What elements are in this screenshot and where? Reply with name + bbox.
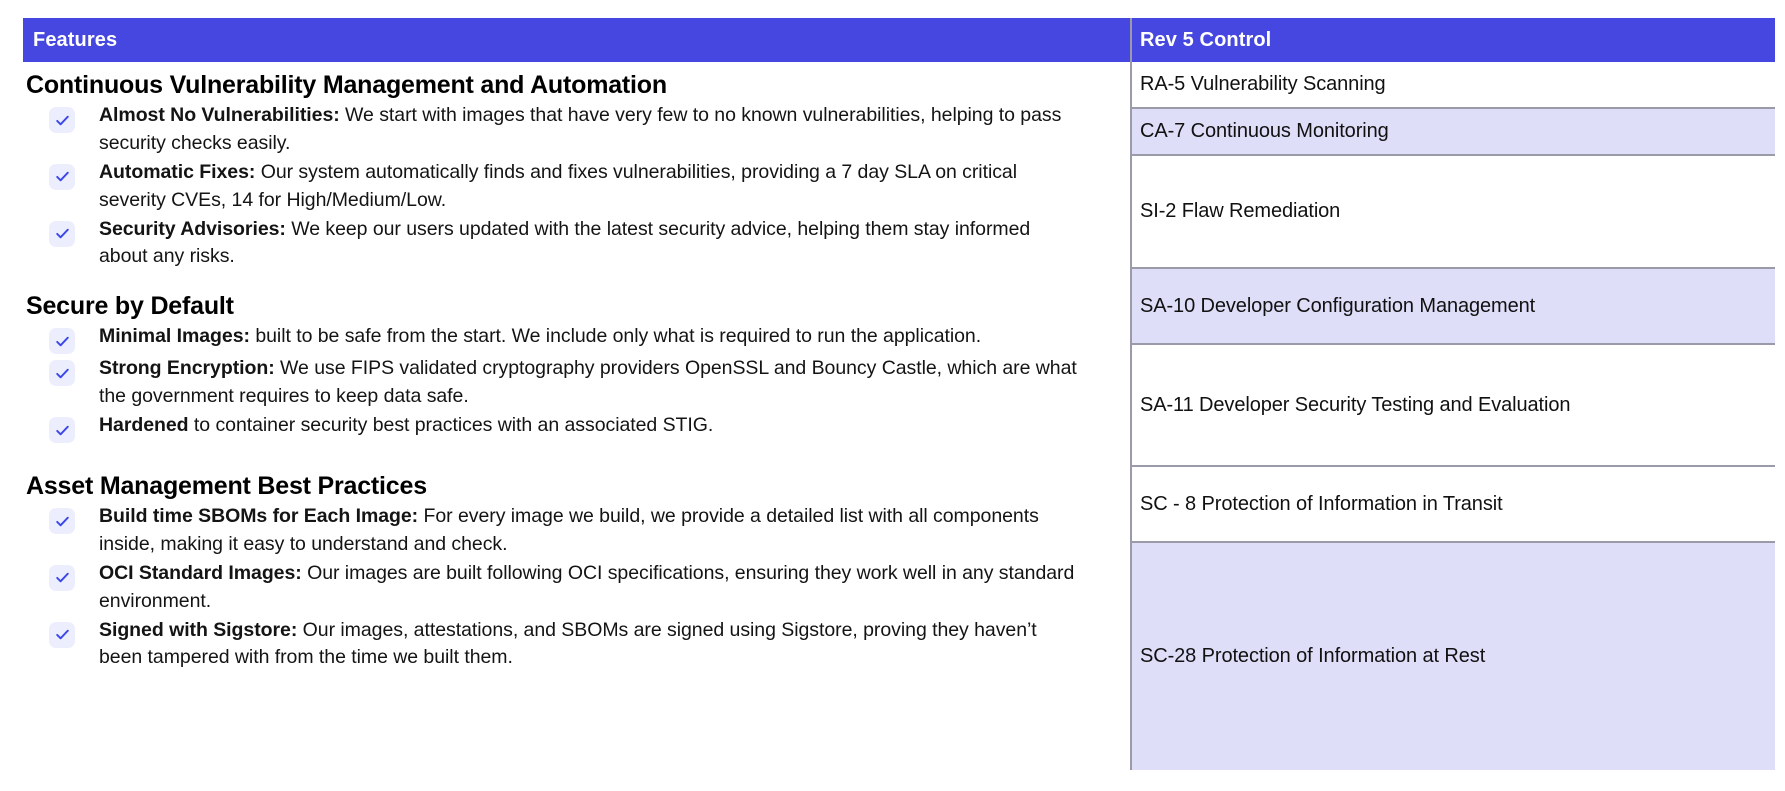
feature-list-item: Build time SBOMs for Each Image: For eve…	[26, 503, 1122, 559]
feature-list-item: Minimal Images: built to be safe from th…	[26, 323, 1122, 354]
control-rows: RA-5 Vulnerability ScanningCA-7 Continuo…	[1132, 62, 1775, 770]
feature-list-item: OCI Standard Images: Our images are buil…	[26, 560, 1122, 616]
control-row-label: SC - 8 Protection of Information in Tran…	[1140, 493, 1503, 516]
feature-checklist: Build time SBOMs for Each Image: For eve…	[26, 503, 1122, 672]
feature-list-item: Strong Encryption: We use FIPS validated…	[26, 355, 1122, 411]
control-row-label: RA-5 Vulnerability Scanning	[1140, 73, 1386, 96]
control-row: SI-2 Flaw Remediation	[1132, 156, 1775, 269]
feature-list-item: Almost No Vulnerabilities: We start with…	[26, 102, 1122, 158]
feature-item-lead: Minimal Images:	[99, 325, 250, 347]
feature-list-item: Security Advisories: We keep our users u…	[26, 216, 1122, 272]
feature-item-text: Security Advisories: We keep our users u…	[99, 216, 1079, 272]
control-column: Rev 5 Control RA-5 Vulnerability Scannin…	[1130, 18, 1775, 770]
features-body: Continuous Vulnerability Management and …	[23, 62, 1130, 770]
feature-item-body: to container security best practices wit…	[189, 414, 714, 436]
features-column-header: Features	[23, 18, 1130, 62]
feature-section-title: Asset Management Best Practices	[26, 471, 1122, 501]
feature-section: Asset Management Best PracticesBuild tim…	[26, 471, 1122, 672]
check-icon	[49, 107, 75, 133]
feature-item-text: Strong Encryption: We use FIPS validated…	[99, 355, 1079, 411]
check-icon	[49, 328, 75, 354]
feature-item-text: Build time SBOMs for Each Image: For eve…	[99, 503, 1079, 559]
feature-list-item: Hardened to container security best prac…	[26, 412, 1122, 443]
feature-list-item: Signed with Sigstore: Our images, attest…	[26, 617, 1122, 673]
feature-item-lead: Almost No Vulnerabilities:	[99, 104, 340, 126]
control-row: SA-11 Developer Security Testing and Eva…	[1132, 345, 1775, 467]
control-row-label: SC-28 Protection of Information at Rest	[1140, 645, 1485, 668]
feature-item-body: built to be safe from the start. We incl…	[250, 325, 981, 347]
check-icon	[49, 508, 75, 534]
control-row: SA-10 Developer Configuration Management	[1132, 269, 1775, 345]
feature-list-item: Automatic Fixes: Our system automaticall…	[26, 159, 1122, 215]
feature-item-text: Automatic Fixes: Our system automaticall…	[99, 159, 1079, 215]
control-row: SC-28 Protection of Information at Rest	[1132, 543, 1775, 770]
feature-item-lead: Hardened	[99, 414, 189, 436]
feature-item-text: OCI Standard Images: Our images are buil…	[99, 560, 1079, 616]
feature-item-lead: Strong Encryption:	[99, 357, 275, 379]
control-row-label: SA-11 Developer Security Testing and Eva…	[1140, 394, 1570, 417]
feature-item-lead: Build time SBOMs for Each Image:	[99, 505, 418, 527]
check-icon	[49, 565, 75, 591]
check-icon	[49, 417, 75, 443]
control-row-label: SA-10 Developer Configuration Management	[1140, 295, 1535, 318]
feature-item-lead: Automatic Fixes:	[99, 161, 255, 183]
features-column: Features Continuous Vulnerability Manage…	[23, 18, 1130, 770]
check-icon	[49, 221, 75, 247]
feature-section: Secure by DefaultMinimal Images: built t…	[26, 291, 1122, 443]
feature-item-text: Minimal Images: built to be safe from th…	[99, 323, 981, 351]
feature-item-text: Hardened to container security best prac…	[99, 412, 713, 440]
feature-section-title: Secure by Default	[26, 291, 1122, 321]
check-icon	[49, 360, 75, 386]
control-row: RA-5 Vulnerability Scanning	[1132, 62, 1775, 109]
feature-item-text: Almost No Vulnerabilities: We start with…	[99, 102, 1079, 158]
feature-item-lead: OCI Standard Images:	[99, 562, 302, 584]
feature-item-text: Signed with Sigstore: Our images, attest…	[99, 617, 1079, 673]
feature-checklist: Minimal Images: built to be safe from th…	[26, 323, 1122, 443]
feature-checklist: Almost No Vulnerabilities: We start with…	[26, 102, 1122, 271]
control-column-header: Rev 5 Control	[1132, 18, 1775, 62]
check-icon	[49, 622, 75, 648]
features-header-label: Features	[33, 29, 117, 52]
feature-section: Continuous Vulnerability Management and …	[26, 70, 1122, 271]
feature-section-title: Continuous Vulnerability Management and …	[26, 70, 1122, 100]
control-header-label: Rev 5 Control	[1140, 29, 1271, 52]
control-row-label: CA-7 Continuous Monitoring	[1140, 120, 1389, 143]
control-row: SC - 8 Protection of Information in Tran…	[1132, 467, 1775, 543]
control-row-label: SI-2 Flaw Remediation	[1140, 200, 1340, 223]
feature-item-lead: Security Advisories:	[99, 218, 286, 240]
check-icon	[49, 164, 75, 190]
comparison-table: Features Continuous Vulnerability Manage…	[23, 18, 1775, 770]
control-row: CA-7 Continuous Monitoring	[1132, 109, 1775, 156]
feature-item-lead: Signed with Sigstore:	[99, 619, 297, 641]
